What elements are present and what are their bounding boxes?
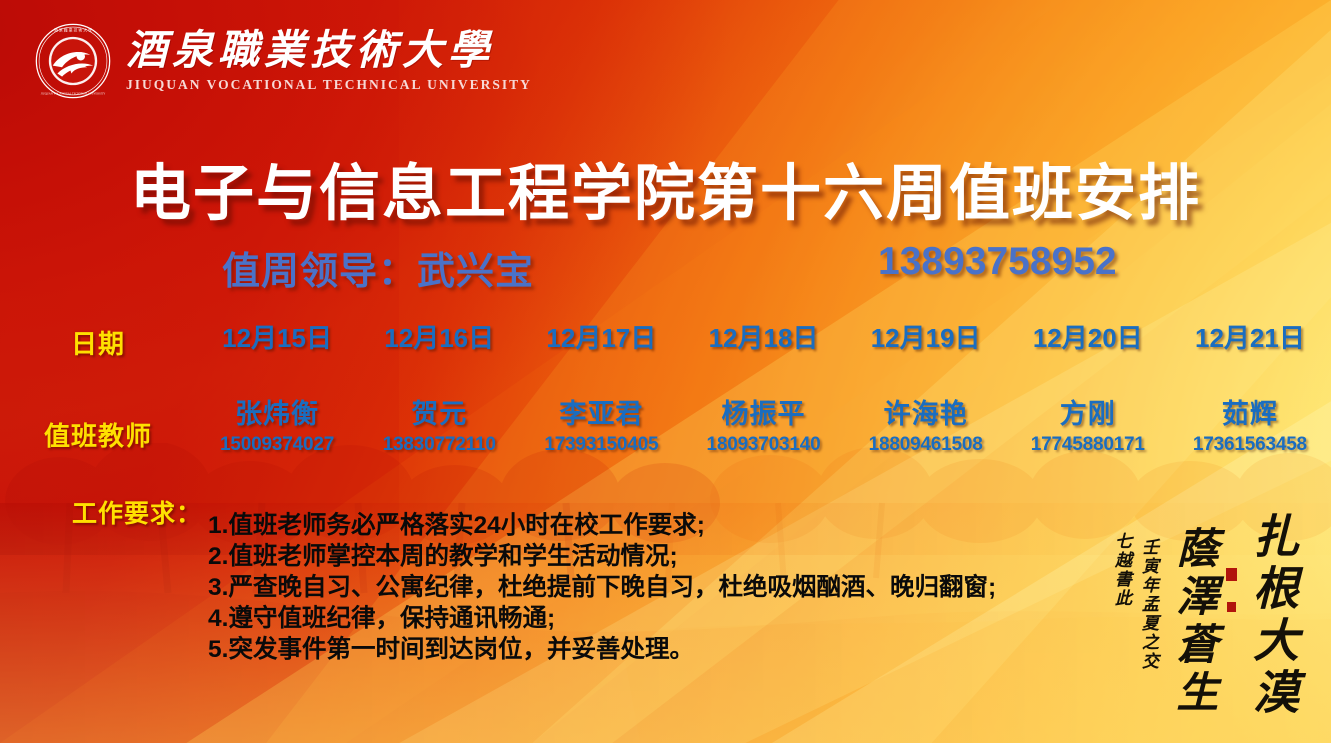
teacher-name: 许海艳 bbox=[845, 392, 1007, 431]
week-leader-phone: 13893758952 bbox=[878, 240, 1117, 284]
date-value: 12月16日 bbox=[358, 318, 520, 355]
teacher-cell: 杨振平 18093703140 bbox=[682, 392, 844, 456]
teacher-phone: 18809461508 bbox=[845, 434, 1007, 456]
requirement-item: 5.突发事件第一时间到达岗位，并妥善处理。 bbox=[208, 634, 996, 665]
university-name-en: JIUQUAN VOCATIONAL TECHNICAL UNIVERSITY bbox=[126, 77, 532, 93]
teacher-cell: 方刚 17745880171 bbox=[1007, 392, 1169, 456]
date-cells: 12月15日 12月16日 12月17日 12月18日 12月19日 12月20… bbox=[196, 318, 1331, 355]
teacher-cell: 贺元 13830772110 bbox=[358, 392, 520, 456]
red-seal-icon bbox=[1226, 568, 1237, 581]
teacher-name: 李亚君 bbox=[520, 392, 682, 431]
page-title: 电子与信息工程学院第十六周值班安排 bbox=[0, 143, 1331, 232]
teacher-phone: 15009374027 bbox=[196, 434, 358, 456]
duty-schedule-poster: 酒 泉 職 業 技 術 大 學 JIUQUAN VOCATIONAL TECHN… bbox=[0, 0, 1331, 743]
date-value: 12月15日 bbox=[196, 318, 358, 355]
teacher-name: 方刚 bbox=[1007, 392, 1169, 431]
teacher-cell: 张炜衡 15009374027 bbox=[196, 392, 358, 456]
date-value: 12月20日 bbox=[1007, 318, 1169, 355]
duty-schedule-table: 日期 12月15日 12月16日 12月17日 12月18日 12月19日 12… bbox=[0, 318, 1331, 456]
teacher-cells: 张炜衡 15009374027 贺元 13830772110 李亚君 17393… bbox=[196, 392, 1331, 456]
svg-text:JIUQUAN VOCATIONAL TECHNICAL U: JIUQUAN VOCATIONAL TECHNICAL UNIVERSITY bbox=[41, 93, 106, 96]
date-row-label: 日期 bbox=[0, 318, 196, 361]
teacher-phone: 17361563458 bbox=[1169, 434, 1331, 456]
svg-text:酒 泉 職 業 技 術 大 學: 酒 泉 職 業 技 術 大 學 bbox=[54, 27, 92, 32]
date-cell: 12月15日 bbox=[196, 318, 358, 355]
date-row: 日期 12月15日 12月16日 12月17日 12月18日 12月19日 12… bbox=[0, 318, 1331, 376]
teacher-row-label: 值班教师 bbox=[0, 392, 196, 453]
teacher-cell: 茹辉 17361563458 bbox=[1169, 392, 1331, 456]
calligraphy-signature-2: 壬寅年孟夏之交 bbox=[1136, 538, 1161, 671]
date-cell: 12月18日 bbox=[682, 318, 844, 355]
week-leader-label: 值周领导：武兴宝 bbox=[222, 240, 534, 295]
university-name-cn: 酒泉職業技術大學 bbox=[126, 29, 532, 72]
teacher-phone: 17745880171 bbox=[1007, 434, 1169, 456]
leader-row: 值周领导：武兴宝 13893758952 bbox=[0, 240, 1331, 296]
date-value: 12月18日 bbox=[682, 318, 844, 355]
red-seal-small-icon bbox=[1227, 602, 1236, 612]
calligraphy-line-2: 蔭澤蒼生 bbox=[1163, 526, 1224, 718]
date-value: 12月19日 bbox=[845, 318, 1007, 355]
calligraphy-seals bbox=[1226, 512, 1237, 612]
teacher-phone: 13830772110 bbox=[358, 434, 520, 456]
teacher-cell: 许海艳 18809461508 bbox=[845, 392, 1007, 456]
university-emblem-icon: 酒 泉 職 業 技 術 大 學 JIUQUAN VOCATIONAL TECHN… bbox=[34, 22, 112, 100]
work-requirements: 工作要求： 1.值班老师务必严格落实24小时在校工作要求; 2.值班老师掌控本周… bbox=[72, 492, 996, 665]
teacher-name: 张炜衡 bbox=[196, 392, 358, 431]
teacher-name: 杨振平 bbox=[682, 392, 844, 431]
university-logo: 酒 泉 職 業 技 術 大 學 JIUQUAN VOCATIONAL TECHN… bbox=[34, 22, 532, 100]
requirement-item: 3.严查晚自习、公寓纪律，杜绝提前下晚自习，杜绝吸烟酗酒、晚归翻窗; bbox=[208, 572, 996, 603]
date-cell: 12月16日 bbox=[358, 318, 520, 355]
teacher-phone: 18093703140 bbox=[682, 434, 844, 456]
teacher-name: 茹辉 bbox=[1169, 392, 1331, 431]
date-cell: 12月20日 bbox=[1007, 318, 1169, 355]
work-requirements-list: 1.值班老师务必严格落实24小时在校工作要求; 2.值班老师掌控本周的教学和学生… bbox=[208, 492, 996, 665]
work-requirements-label: 工作要求： bbox=[72, 492, 202, 530]
teacher-cell: 李亚君 17393150405 bbox=[520, 392, 682, 456]
teacher-row: 值班教师 张炜衡 15009374027 贺元 13830772110 李亚君 … bbox=[0, 392, 1331, 456]
calligraphy-artwork: 七越書此 壬寅年孟夏之交 蔭澤蒼生 扎根大漠 bbox=[1109, 512, 1305, 720]
date-cell: 12月19日 bbox=[845, 318, 1007, 355]
calligraphy-line-1: 扎根大漠 bbox=[1239, 512, 1305, 720]
teacher-phone: 17393150405 bbox=[520, 434, 682, 456]
requirement-item: 4.遵守值班纪律，保持通讯畅通; bbox=[208, 603, 996, 634]
date-value: 12月21日 bbox=[1169, 318, 1331, 355]
requirement-item: 1.值班老师务必严格落实24小时在校工作要求; bbox=[208, 510, 996, 541]
date-cell: 12月17日 bbox=[520, 318, 682, 355]
calligraphy-signature-1: 七越書此 bbox=[1109, 532, 1134, 608]
date-value: 12月17日 bbox=[520, 318, 682, 355]
date-cell: 12月21日 bbox=[1169, 318, 1331, 355]
requirement-item: 2.值班老师掌控本周的教学和学生活动情况; bbox=[208, 541, 996, 572]
teacher-name: 贺元 bbox=[358, 392, 520, 431]
